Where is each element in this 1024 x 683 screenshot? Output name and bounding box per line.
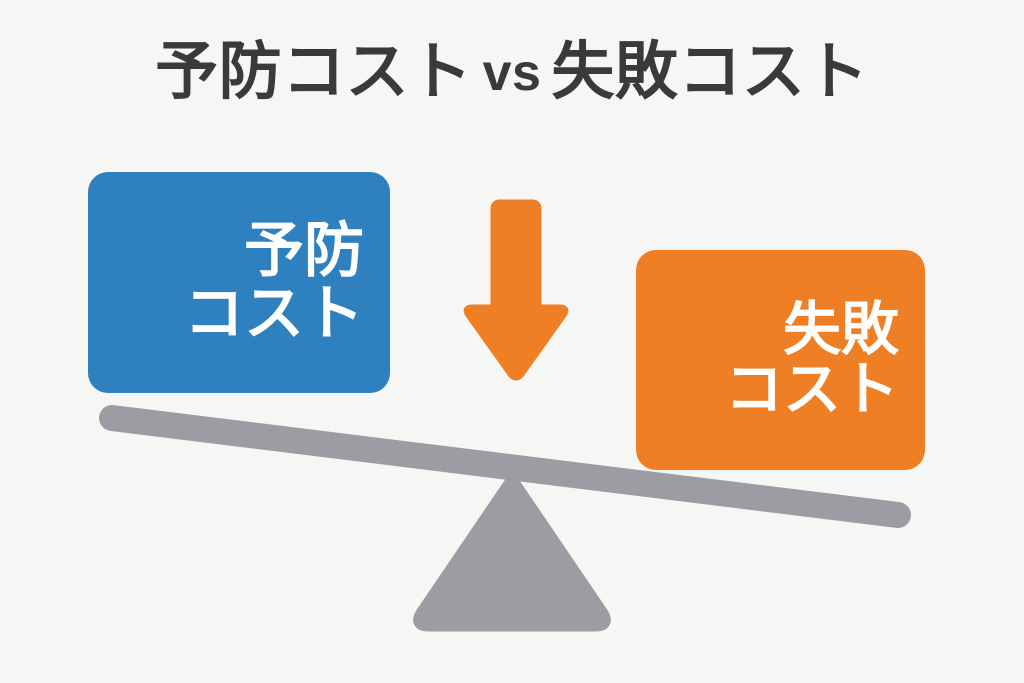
prevention-cost-label-line1: 予防 bbox=[244, 220, 364, 282]
failure-cost-label-line1: 失敗 bbox=[783, 300, 899, 360]
failure-cost-box[interactable]: 失敗 コスト bbox=[636, 250, 925, 470]
failure-cost-label-line2: コスト bbox=[725, 360, 899, 420]
prevention-cost-box[interactable]: 予防 コスト bbox=[88, 172, 390, 393]
title-separator: vs bbox=[473, 44, 552, 102]
page-title: 予防コストvs失敗コスト bbox=[0, 36, 1024, 108]
prevention-cost-label-line2: コスト bbox=[184, 283, 364, 345]
infographic-canvas: 予防コストvs失敗コスト 予防 コスト 失敗 コスト bbox=[0, 0, 1024, 683]
down-arrow-icon bbox=[455, 198, 575, 388]
arrow-shape bbox=[467, 203, 565, 377]
fulcrum-triangle bbox=[420, 481, 605, 625]
title-left-text: 予防コスト bbox=[155, 37, 473, 107]
title-right-text: 失敗コスト bbox=[551, 37, 869, 107]
